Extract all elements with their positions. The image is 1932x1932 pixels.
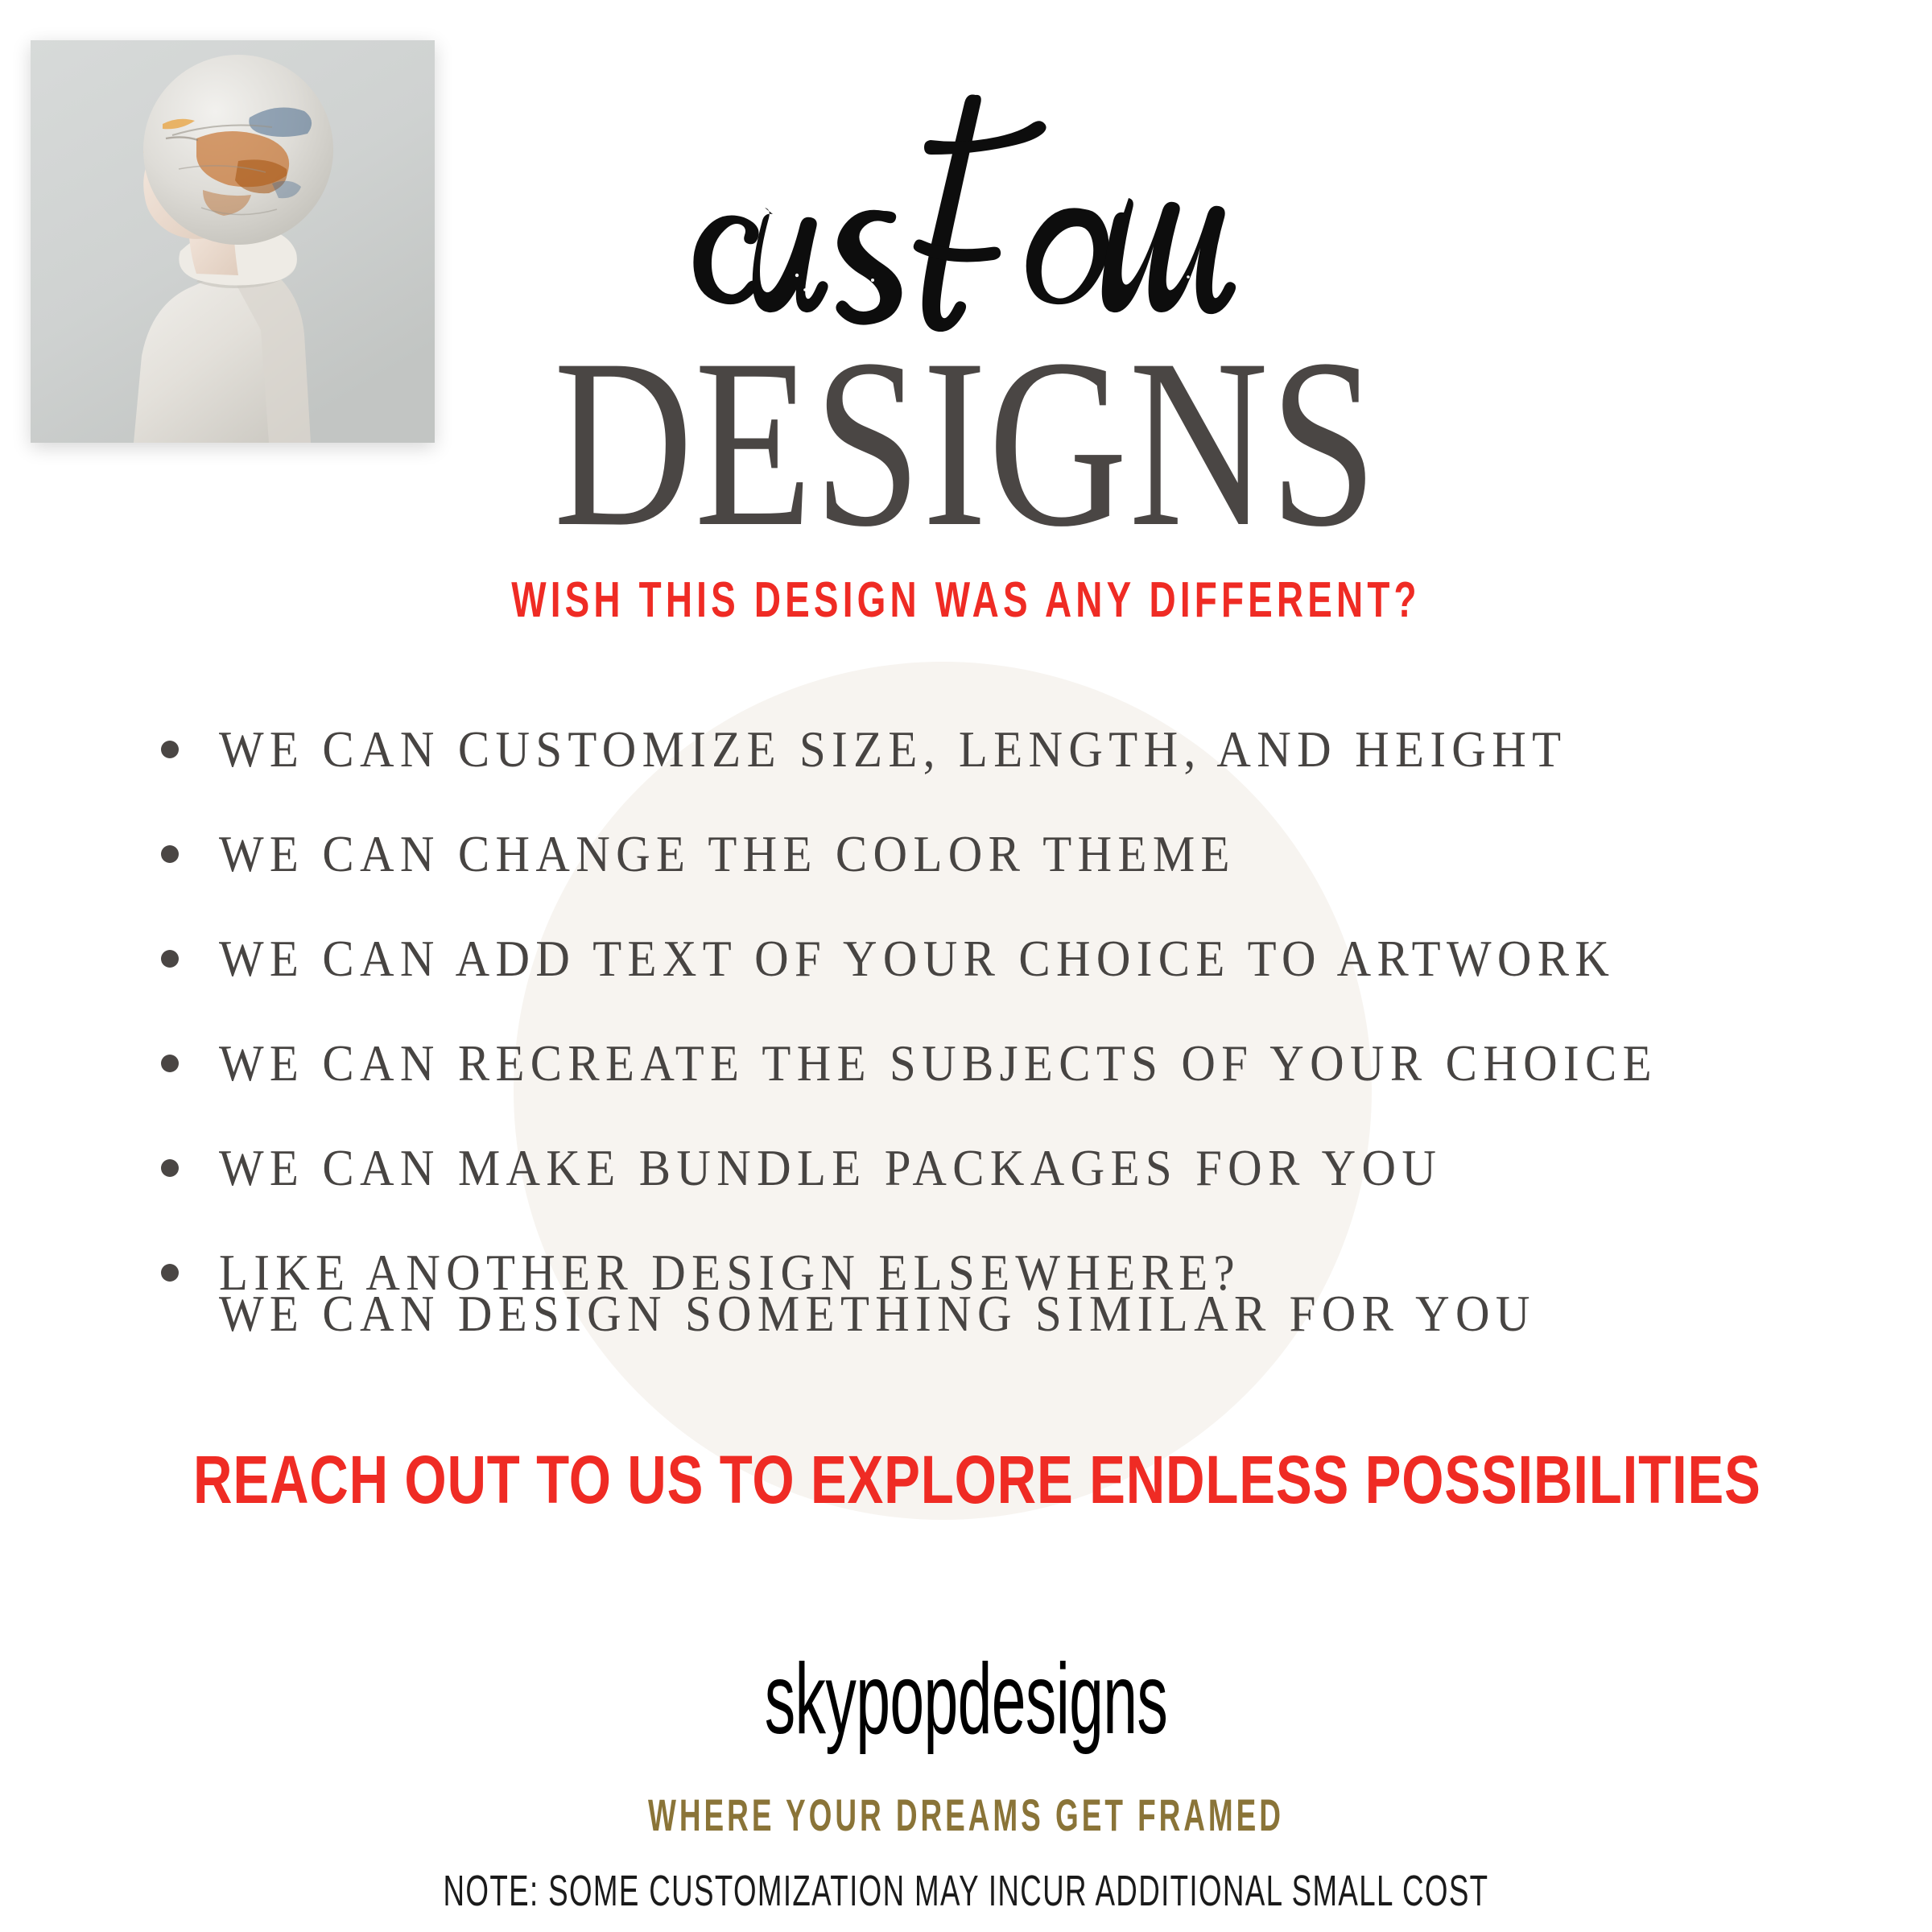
- feature-list: WE CAN CUSTOMIZE SIZE, LENGTH, AND HEIGH…: [161, 697, 1851, 1325]
- list-item-label: WE CAN MAKE BUNDLE PACKAGES FOR YOU: [219, 1142, 1442, 1194]
- bullet-dot-icon: [161, 1055, 179, 1072]
- subtitle-question: WISH THIS DESIGN WAS ANY DIFFERENT?: [251, 572, 1681, 629]
- list-item-label: WE CAN CUSTOMIZE SIZE, LENGTH, AND HEIGH…: [219, 724, 1567, 775]
- list-item: WE CAN ADD TEXT OF YOUR CHOICE TO ARTWOR…: [161, 906, 1851, 1011]
- list-item: WE CAN CUSTOMIZE SIZE, LENGTH, AND HEIGH…: [161, 697, 1851, 802]
- bullet-dot-icon: [161, 950, 179, 968]
- list-item-continuation: WE CAN DESIGN SOMETHING SIMILAR FOR YOU: [219, 1288, 1536, 1340]
- list-item: WE CAN RECREATE THE SUBJECTS OF YOUR CHO…: [161, 1011, 1851, 1116]
- footer-note: NOTE: SOME CUSTOMIZATION MAY INCUR ADDIT…: [309, 1866, 1623, 1916]
- list-item-label: WE CAN ADD TEXT OF YOUR CHOICE TO ARTWOR…: [219, 933, 1615, 985]
- brand-tagline: WHERE YOUR DREAMS GET FRAMED: [328, 1789, 1604, 1841]
- list-item: WE CAN CHANGE THE COLOR THEME: [161, 802, 1851, 906]
- custom-script-wordmark: [676, 90, 1272, 332]
- list-item: WE CAN MAKE BUNDLE PACKAGES FOR YOU: [161, 1116, 1851, 1220]
- bullet-dot-icon: [161, 741, 179, 758]
- brand-logo-text: skypopdesigns: [367, 1642, 1565, 1757]
- bullet-dot-icon: [161, 1264, 179, 1282]
- call-to-action: REACH OUT TO US TO EXPLORE ENDLESS POSSI…: [193, 1441, 1739, 1519]
- custom-designs-poster: DESIGNS WISH THIS DESIGN WAS ANY DIFFERE…: [0, 0, 1932, 1932]
- list-item-label: WE CAN RECREATE THE SUBJECTS OF YOUR CHO…: [219, 1038, 1657, 1089]
- bullet-dot-icon: [161, 845, 179, 863]
- page-title: DESIGNS: [193, 322, 1739, 563]
- list-item-label: WE CAN CHANGE THE COLOR THEME: [219, 828, 1236, 880]
- custom-script-icon: [676, 90, 1272, 332]
- bullet-dot-icon: [161, 1159, 179, 1177]
